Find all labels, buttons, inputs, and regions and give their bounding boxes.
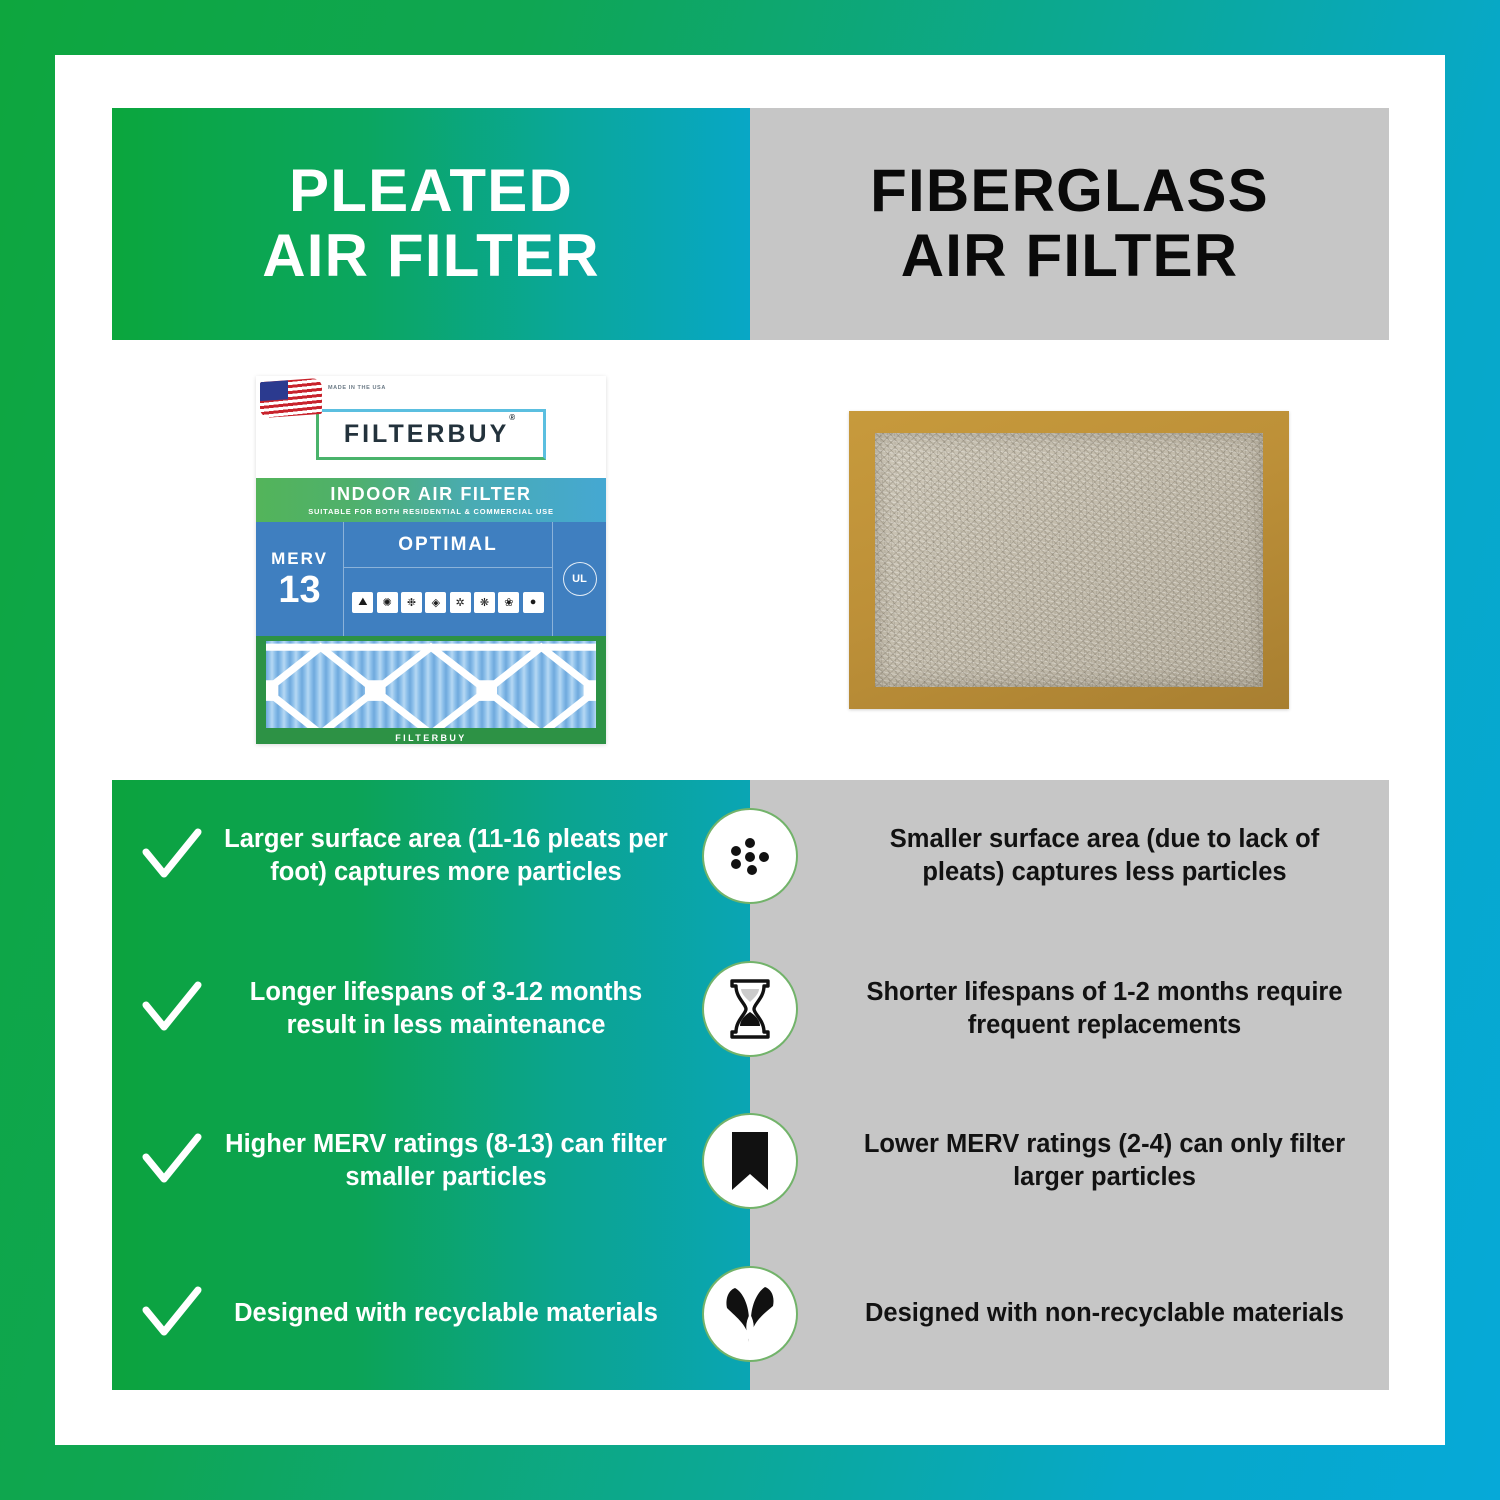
feature-row-left: Larger surface area (11-16 pleats per fo…	[112, 780, 750, 933]
feature-row-left: Designed with recyclable materials	[112, 1238, 750, 1391]
feature-text-left: Longer lifespans of 3-12 months result i…	[222, 976, 670, 1042]
usa-flag-icon	[260, 378, 322, 418]
feature-text-left: Higher MERV ratings (8-13) can filter sm…	[222, 1128, 670, 1194]
feature-text-left: Designed with recyclable materials	[222, 1297, 670, 1330]
feature-comparison-panel: Larger surface area (11-16 pleats per fo…	[112, 780, 1389, 1390]
feature-row-right: Smaller surface area (due to lack of ple…	[750, 780, 1389, 933]
checkmark-icon	[140, 824, 204, 888]
feature-row-left: Longer lifespans of 3-12 months result i…	[112, 933, 750, 1086]
pollen-icon: ❉	[401, 592, 422, 613]
poster-inner-canvas: PLEATED AIR FILTER FIBERGLASS AIR FILTER…	[55, 55, 1445, 1445]
feature-row-right: Designed with non-recyclable materials	[750, 1238, 1389, 1391]
feature-row-right: Lower MERV ratings (2-4) can only filter…	[750, 1085, 1389, 1238]
feature-row: Designed with recyclable materials Desig…	[112, 1238, 1389, 1391]
bookmark-icon	[702, 1113, 798, 1209]
made-in-usa-label: MADE IN THE USA	[328, 384, 386, 392]
filterbox-spec-panel: MERV 13 OPTIMAL ⛰ ✺ ❉ ◈ ✲ ❋	[256, 522, 606, 636]
feature-text-left: Larger surface area (11-16 pleats per fo…	[222, 823, 670, 889]
comparison-poster: PLEATED AIR FILTER FIBERGLASS AIR FILTER…	[0, 0, 1500, 1500]
feature-row: Larger surface area (11-16 pleats per fo…	[112, 780, 1389, 933]
header-band: PLEATED AIR FILTER FIBERGLASS AIR FILTER	[112, 108, 1389, 340]
leaf-recycle-icon	[702, 1266, 798, 1362]
feature-row-right: Shorter lifespans of 1-2 months require …	[750, 933, 1389, 1086]
merv-value: 13	[278, 571, 320, 609]
filterbox-band-sub: SUITABLE FOR BOTH RESIDENTIAL & COMMERCI…	[308, 507, 554, 516]
fiberglass-media-texture	[875, 433, 1263, 687]
dander-icon: ❋	[474, 592, 495, 613]
header-pleated-title: PLEATED AIR FILTER	[262, 159, 600, 289]
feature-text-right: Designed with non-recyclable materials	[850, 1297, 1359, 1330]
header-fiberglass-title: FIBERGLASS AIR FILTER	[870, 159, 1269, 289]
fiberglass-filter-image	[849, 411, 1289, 709]
filterbuy-logo-text: FILTERBUY®	[333, 420, 529, 449]
benefit-icon-row: ⛰ ✺ ❉ ◈ ✲ ❋ ❀ ●	[344, 568, 552, 636]
filterbox-footer-brand: FILTERBUY	[256, 733, 606, 743]
feature-text-right: Shorter lifespans of 1-2 months require …	[850, 976, 1359, 1042]
filterbox-top: MADE IN THE USA FILTERBUY®	[256, 376, 606, 478]
merv-label: MERV	[271, 549, 328, 569]
product-images-strip: MADE IN THE USA FILTERBUY® INDOOR AIR FI…	[112, 355, 1389, 765]
particles-icon	[702, 808, 798, 904]
dust-mites-icon: ✺	[377, 592, 398, 613]
powder-icon: ❀	[498, 592, 519, 613]
pleated-filter-image: MADE IN THE USA FILTERBUY® INDOOR AIR FI…	[256, 376, 606, 744]
filterbuy-logo: FILTERBUY®	[316, 409, 546, 460]
filterbox-band: INDOOR AIR FILTER SUITABLE FOR BOTH RESI…	[256, 478, 606, 522]
product-cell-fiberglass	[750, 355, 1388, 765]
lint-icon: ✲	[450, 592, 471, 613]
feature-text-right: Lower MERV ratings (2-4) can only filter…	[850, 1128, 1359, 1194]
mold-icon: ◈	[425, 592, 446, 613]
feature-row-left: Higher MERV ratings (8-13) can filter sm…	[112, 1085, 750, 1238]
feature-text-right: Smaller surface area (due to lack of ple…	[850, 823, 1359, 889]
household-dust-icon: ⛰	[352, 592, 373, 613]
ul-certification-icon: UL	[563, 562, 597, 596]
header-fiberglass: FIBERGLASS AIR FILTER	[750, 108, 1389, 340]
certification-area: UL	[552, 522, 606, 636]
merv-badge: MERV 13	[256, 522, 344, 636]
checkmark-icon	[140, 1129, 204, 1193]
pleated-media-area: FILTERBUY	[256, 636, 606, 744]
filterbox-spec-main: OPTIMAL ⛰ ✺ ❉ ◈ ✲ ❋ ❀ ●	[344, 522, 552, 636]
header-pleated: PLEATED AIR FILTER	[112, 108, 750, 340]
checkmark-icon	[140, 1282, 204, 1346]
pleated-media-texture	[266, 641, 596, 728]
hourglass-icon	[702, 961, 798, 1057]
filterbox-band-main: INDOOR AIR FILTER	[330, 484, 531, 505]
tier-label: OPTIMAL	[344, 522, 552, 568]
bacteria-icon: ●	[523, 592, 544, 613]
feature-row: Longer lifespans of 3-12 months result i…	[112, 933, 1389, 1086]
support-lattice-icon	[266, 641, 596, 728]
product-cell-pleated: MADE IN THE USA FILTERBUY® INDOOR AIR FI…	[112, 355, 750, 765]
feature-row: Higher MERV ratings (8-13) can filter sm…	[112, 1085, 1389, 1238]
checkmark-icon	[140, 977, 204, 1041]
